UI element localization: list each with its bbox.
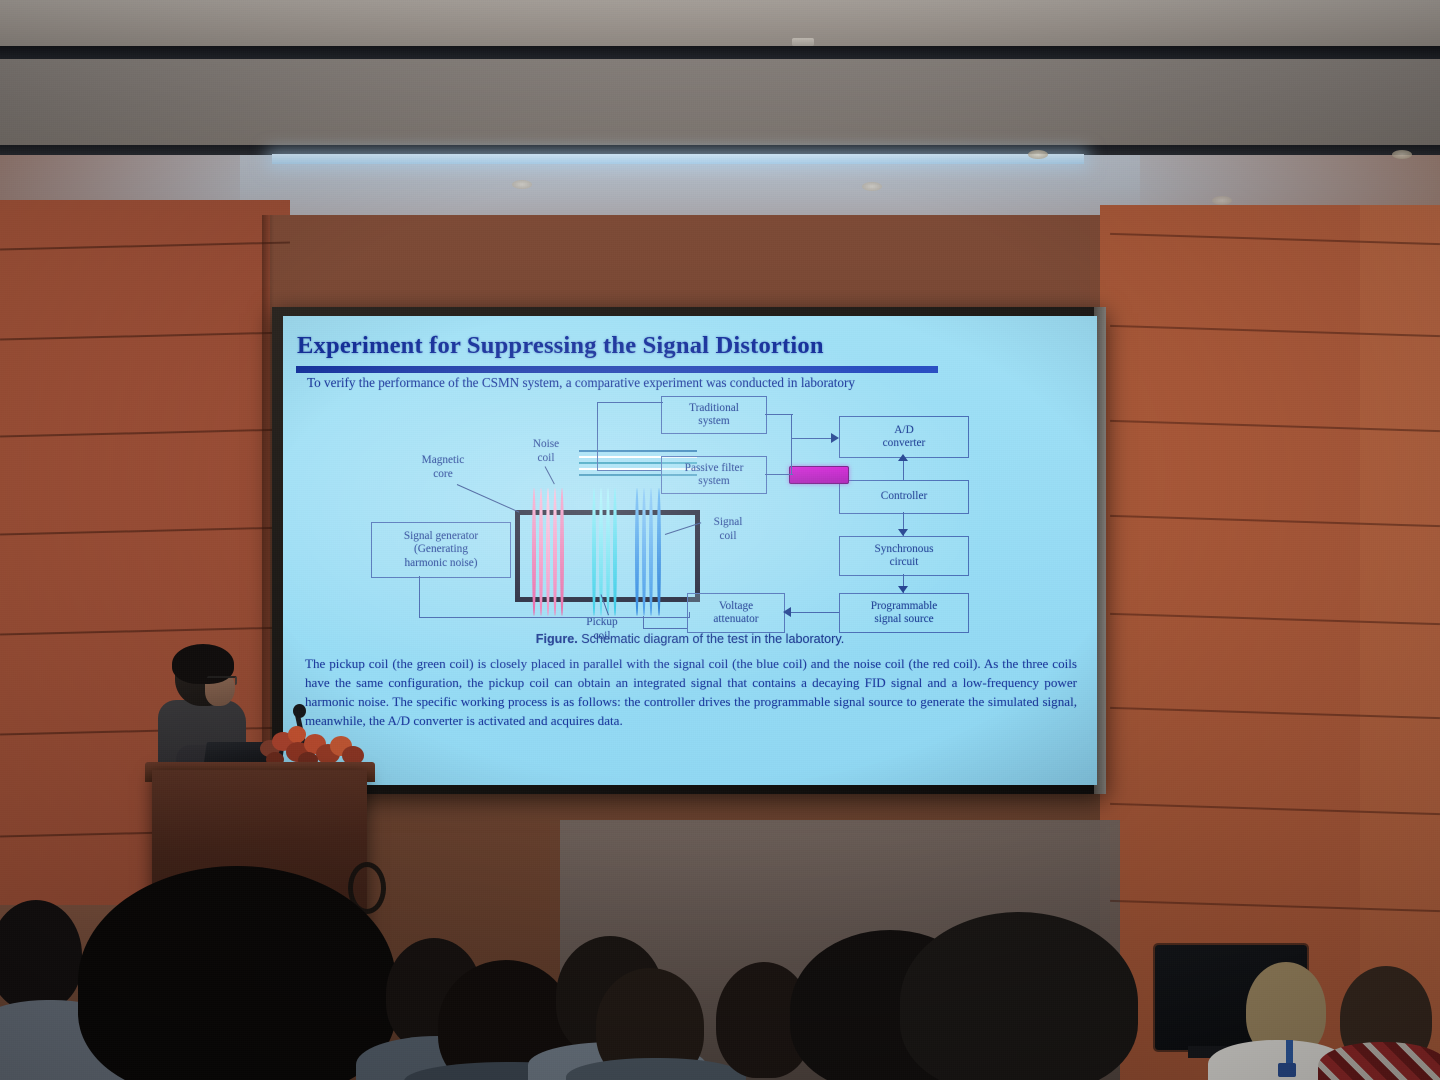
wire — [597, 402, 598, 470]
arrow-icon — [831, 433, 839, 443]
wire — [791, 438, 792, 474]
arrow-icon — [898, 529, 908, 536]
slide-body-paragraph: The pickup coil (the green coil) is clos… — [305, 654, 1077, 730]
figure-caption: Figure. Schematic diagram of the test in… — [283, 632, 1097, 646]
downlight-icon — [1212, 196, 1232, 205]
pickup-coil-shape — [592, 488, 620, 616]
schematic-diagram: Traditional system Passive filter system… — [283, 388, 1097, 638]
ceiling-upper-panel — [0, 0, 1440, 48]
downlight-icon — [1028, 150, 1048, 159]
box-programmable-signal-source-label: Programmable signal source — [871, 600, 938, 627]
magenta-highlight-annotation — [789, 466, 849, 484]
box-passive-filter-system-label: Passive filter system — [685, 462, 744, 489]
wire — [419, 617, 689, 618]
presenter-glasses-icon — [207, 676, 237, 685]
wire — [643, 628, 687, 629]
leader-line — [545, 466, 555, 484]
box-synchronous-circuit: Synchronous circuit — [839, 536, 969, 576]
projection-screen: Experiment for Suppressing the Signal Di… — [283, 316, 1097, 785]
box-programmable-signal-source: Programmable signal source — [839, 593, 969, 633]
audience-head — [900, 912, 1138, 1080]
figure-caption-prefix: Figure. — [536, 632, 578, 646]
figure-caption-text: Schematic diagram of the test in the lab… — [578, 632, 844, 646]
leader-line — [457, 484, 520, 513]
box-ad-converter-label: A/D converter — [883, 424, 926, 451]
label-signal-coil: Signal coil — [697, 516, 759, 543]
wire — [791, 612, 839, 613]
wire — [765, 474, 793, 475]
audience-shoulders-plaid — [1318, 1042, 1440, 1080]
wire — [643, 616, 644, 628]
arrow-icon — [783, 607, 791, 617]
box-voltage-attenuator-label: Voltage attenuator — [713, 600, 758, 627]
ceiling-middle-panel — [0, 59, 1440, 147]
conference-room-photo: Experiment for Suppressing the Signal Di… — [0, 0, 1440, 1080]
audience-head — [78, 866, 396, 1080]
ceiling-vent-icon — [792, 38, 814, 46]
box-traditional-system-label: Traditional system — [689, 402, 739, 429]
arrow-icon — [898, 454, 908, 461]
badge-icon — [1278, 1063, 1296, 1077]
box-controller: Controller — [839, 480, 969, 514]
wire — [791, 438, 835, 439]
wire — [597, 402, 663, 403]
wire — [597, 470, 661, 471]
microphone-icon — [293, 704, 306, 718]
noise-coil-shape — [532, 488, 566, 616]
signal-coil-shape — [635, 488, 665, 616]
presentation-slide: Experiment for Suppressing the Signal Di… — [283, 316, 1097, 785]
box-signal-generator-label: Signal generator (Generating harmonic no… — [404, 530, 478, 570]
downlight-icon — [862, 182, 882, 191]
label-noise-coil: Noise coil — [515, 438, 577, 465]
label-magnetic-core: Magnetic core — [401, 454, 485, 481]
slide-title-rule — [296, 366, 938, 373]
ceiling-beam-upper — [0, 46, 1440, 60]
box-voltage-attenuator: Voltage attenuator — [687, 593, 785, 633]
box-passive-filter-system: Passive filter system — [661, 456, 767, 494]
box-signal-generator: Signal generator (Generating harmonic no… — [371, 522, 511, 578]
wire — [765, 414, 793, 415]
slide-title: Experiment for Suppressing the Signal Di… — [297, 332, 997, 360]
box-ad-converter: A/D converter — [839, 416, 969, 458]
ceiling-light-strip — [272, 154, 1084, 164]
wire — [791, 414, 792, 438]
arrow-icon — [898, 586, 908, 593]
downlight-icon — [1392, 150, 1412, 159]
box-controller-label: Controller — [881, 490, 927, 503]
box-synchronous-circuit-label: Synchronous circuit — [875, 543, 934, 570]
downlight-icon — [512, 180, 532, 189]
wire — [419, 576, 420, 618]
box-traditional-system: Traditional system — [661, 396, 767, 434]
wire — [689, 612, 690, 618]
